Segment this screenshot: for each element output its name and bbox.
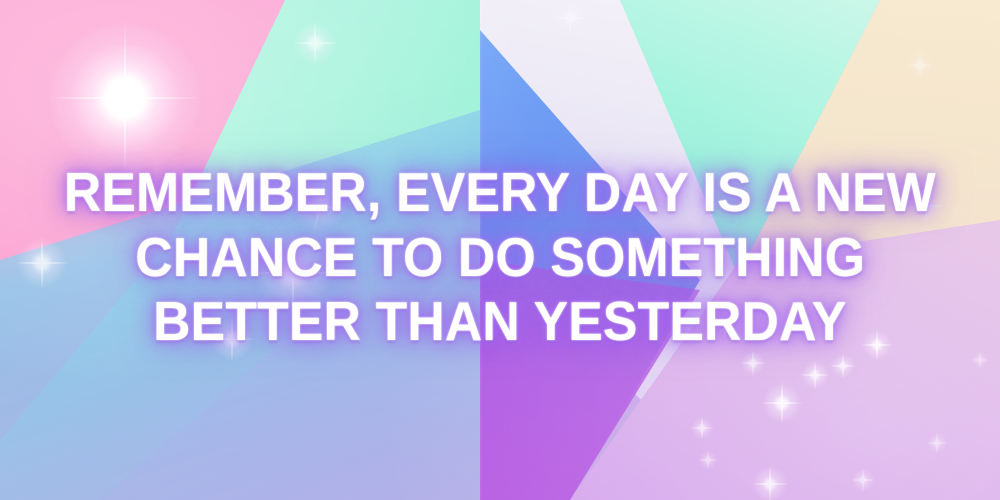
quote-banner: REMEMBER, EVERY DAY IS A NEW CHANCE TO D…: [0, 0, 1000, 500]
quote-line-1: REMEMBER, EVERY DAY IS A NEW: [64, 163, 936, 222]
quote-line-2: CHANCE TO DO SOMETHING: [135, 228, 865, 287]
quote-line-3: BETTER THAN YESTERDAY: [153, 292, 846, 351]
quote-text-block: REMEMBER, EVERY DAY IS A NEW CHANCE TO D…: [0, 0, 1000, 500]
